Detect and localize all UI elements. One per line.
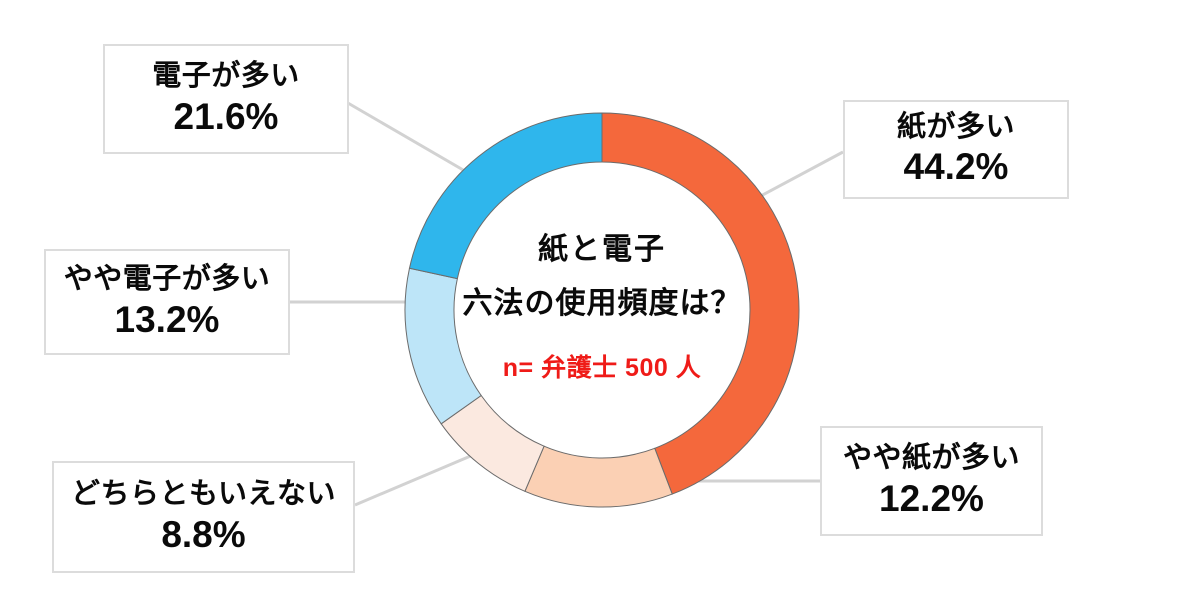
callout-yaya-kami-ga-ooi: やや紙が多い 12.2% (820, 426, 1043, 536)
callout-yaya-denshi-ga-ooi: やや電子が多い 13.2% (44, 249, 290, 355)
donut-slice-紙が多い (602, 113, 799, 494)
callout-label: 電子が多い (152, 61, 300, 92)
callout-value: 12.2% (879, 479, 984, 519)
chart-canvas: 紙と電子 六法の使用頻度は？ n= 弁護士 500 人 電子が多い 21.6% … (0, 0, 1200, 600)
callout-label: やや紙が多い (843, 443, 1020, 474)
callout-denshi-ga-ooi: 電子が多い 21.6% (103, 44, 349, 154)
donut-slice-電子が多い (409, 113, 602, 279)
callout-value: 44.2% (904, 147, 1009, 187)
callout-label: 紙が多い (897, 112, 1015, 143)
leader-line-dochiratomo-ienai (355, 452, 480, 505)
callout-dochiratomo-ienai: どちらともいえない 8.8% (52, 461, 355, 573)
donut-slices (405, 113, 799, 507)
callout-value: 13.2% (115, 300, 220, 340)
callout-value: 8.8% (161, 515, 245, 555)
donut-slice-やや紙が多い (525, 446, 672, 507)
donut-slice-やや電子が多い (405, 268, 481, 424)
callout-label: やや電子が多い (64, 264, 271, 295)
callout-kami-ga-ooi: 紙が多い 44.2% (843, 100, 1069, 199)
callout-value: 21.6% (174, 97, 279, 137)
callout-label: どちらともいえない (71, 479, 336, 510)
